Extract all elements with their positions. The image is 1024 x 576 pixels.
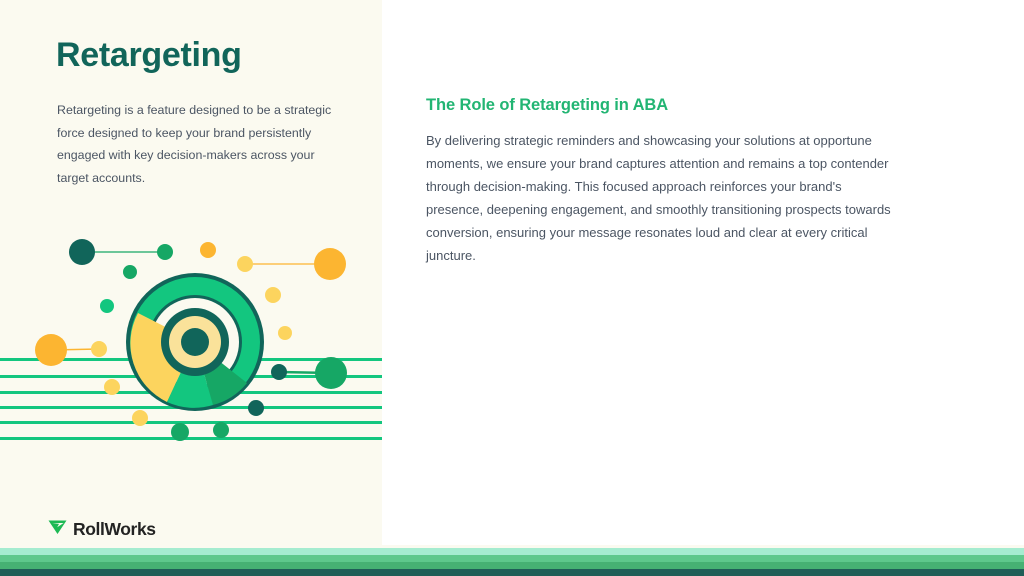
node-green-tiny	[123, 265, 137, 279]
node-yellow-link	[237, 256, 253, 272]
node-orange-left	[35, 334, 67, 366]
node-dark-teal-large	[69, 239, 95, 265]
band-mint	[0, 548, 1024, 555]
node-yellow-top	[200, 242, 216, 258]
band-teal	[0, 569, 1024, 576]
node-green-mint	[100, 299, 114, 313]
bottom-decorative-bands	[0, 545, 1024, 576]
node-yellow-right-2	[278, 326, 292, 340]
section-title: The Role of Retargeting in ABA	[426, 96, 896, 115]
slide-root: Retargeting Retargeting is a feature des…	[0, 0, 1024, 576]
node-yellow-right	[265, 287, 281, 303]
node-yellow-mid	[104, 379, 120, 395]
band-green-light	[0, 555, 1024, 562]
node-orange-large	[314, 248, 346, 280]
node-green-small	[157, 244, 173, 260]
rollworks-triangle-icon	[48, 519, 67, 540]
node-green-bottom-1	[171, 423, 189, 441]
node-yellow-low	[132, 410, 148, 426]
body-paragraph: By delivering strategic reminders and sh…	[426, 129, 894, 267]
bullseye-target	[126, 273, 264, 411]
band-green-dark	[0, 562, 1024, 569]
node-green-bottom-2	[213, 422, 229, 438]
rollworks-logo-text: RollWorks	[73, 521, 156, 539]
retargeting-bullseye-illustration	[0, 225, 382, 455]
left-panel: Retargeting Retargeting is a feature des…	[0, 0, 382, 545]
intro-paragraph: Retargeting is a feature designed to be …	[57, 99, 347, 189]
page-title: Retargeting	[56, 36, 242, 75]
node-teal-right	[271, 364, 287, 380]
right-content-column: The Role of Retargeting in ABA By delive…	[426, 96, 896, 267]
node-green-right	[315, 357, 347, 389]
node-teal-low	[248, 400, 264, 416]
rollworks-logo: RollWorks	[48, 519, 156, 540]
node-yellow-left	[91, 341, 107, 357]
